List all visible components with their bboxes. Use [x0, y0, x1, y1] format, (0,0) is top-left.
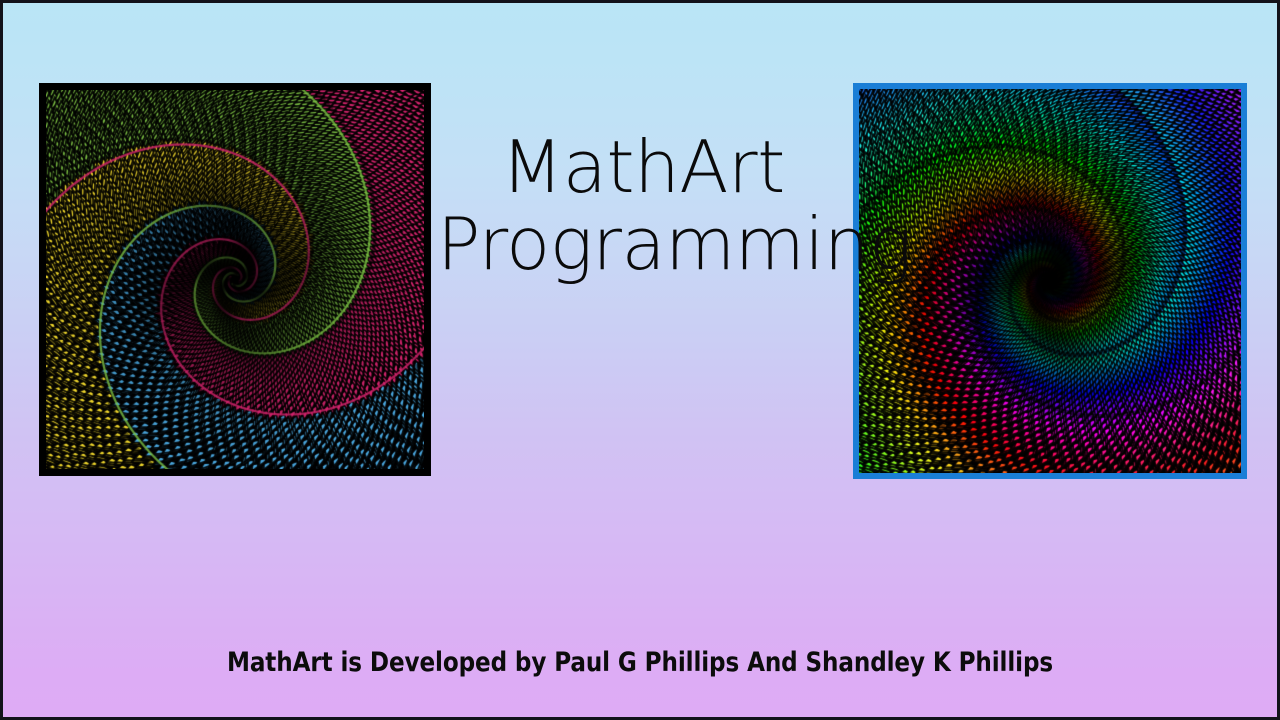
- credits-caption: MathArt is Developed by Paul G Phillips …: [35, 647, 1245, 678]
- slide-canvas: MathArt Programming MathArt is Developed…: [0, 0, 1280, 720]
- artwork-spiral-fractal-left[interactable]: [39, 83, 431, 476]
- page-title: MathArt Programming: [437, 129, 849, 283]
- title-line-secondary: Programming: [437, 206, 849, 283]
- artwork-spiral-fractal-right[interactable]: [853, 83, 1247, 479]
- title-line-primary: MathArt: [437, 129, 849, 206]
- spiral-fractal-right-canvas: [859, 89, 1241, 473]
- spiral-fractal-left-canvas: [46, 90, 424, 469]
